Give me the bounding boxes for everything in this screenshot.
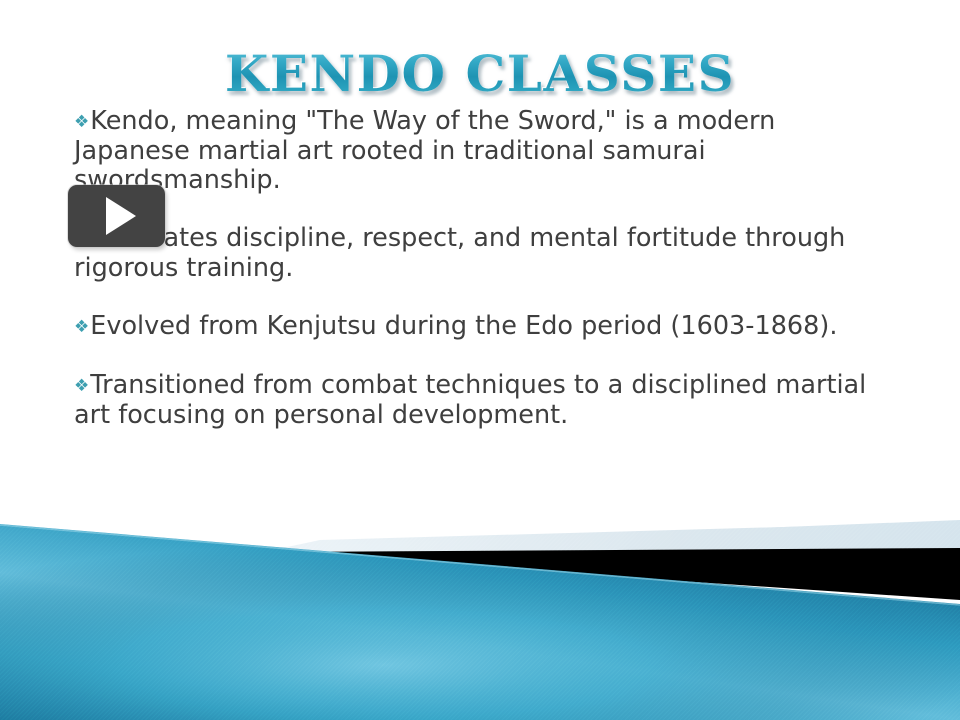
list-item: ❖Cultivates discipline, respect, and men… — [74, 224, 894, 283]
slide-footer-decoration — [0, 500, 960, 720]
diamond-bullet-icon: ❖ — [74, 376, 89, 396]
presentation-slide: Kendo Classes Kendo Classes ❖Kendo, mean… — [0, 0, 960, 720]
slide-body: ❖Kendo, meaning "The Way of the Sword," … — [74, 107, 894, 430]
page-title: Kendo Classes — [225, 46, 735, 102]
embedded-video-player[interactable] — [68, 185, 165, 247]
bullet-text: ❖Evolved from Kenjutsu during the Edo pe… — [74, 312, 894, 342]
list-item: ❖Kendo, meaning "The Way of the Sword," … — [74, 107, 894, 195]
bullet-label: Evolved from Kenjutsu during the Edo per… — [90, 311, 837, 341]
bullet-text: ❖Kendo, meaning "The Way of the Sword," … — [74, 107, 894, 195]
bullet-text: ❖Cultivates discipline, respect, and men… — [74, 224, 894, 283]
bullet-text: ❖Transitioned from combat techniques to … — [74, 371, 894, 430]
diamond-bullet-icon: ❖ — [74, 112, 89, 132]
slide-title-container: Kendo Classes — [0, 46, 960, 102]
angles-banner-svg — [0, 500, 960, 720]
list-item: ❖Evolved from Kenjutsu during the Edo pe… — [74, 312, 894, 342]
list-item: ❖Transitioned from combat techniques to … — [74, 371, 894, 430]
diamond-bullet-icon: ❖ — [74, 317, 89, 337]
slide-title-shadow: Kendo Classes — [3, 50, 960, 106]
bullet-label: Transitioned from combat techniques to a… — [74, 370, 866, 430]
play-icon[interactable] — [106, 197, 136, 235]
bullet-label: Cultivates discipline, respect, and ment… — [74, 223, 845, 283]
bullet-label: Kendo, meaning "The Way of the Sword," i… — [74, 106, 775, 195]
